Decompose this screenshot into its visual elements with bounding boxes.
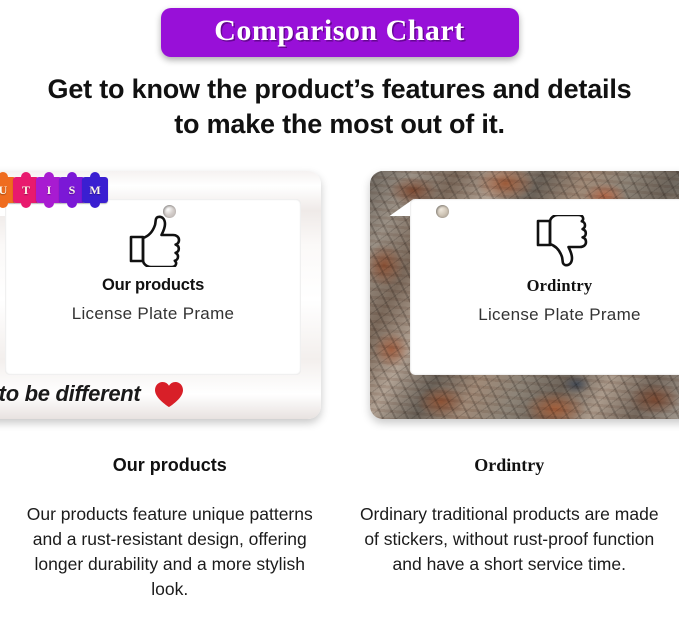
puzzle-letter: M [89,183,100,198]
plate-product-name: Ordintry [527,276,593,296]
slogan-text: ay to be different [0,381,140,407]
plate-product-subtitle: License Plate Prame [72,304,235,324]
slogan-band: ay to be different [0,379,321,409]
plate-window-ours: Our products License Plate Prame [5,199,301,375]
caption-body: Our products feature unique patterns and… [16,502,324,601]
plate-content-ours: Our products License Plate Prame [5,199,301,375]
caption-body: Ordinary traditional products are made o… [356,502,664,577]
comparison-chart-page: Comparison Chart Get to know the product… [0,0,679,618]
product-comparison-row: A U T I S M [0,163,679,431]
puzzle-piece: M [82,177,108,203]
caption-row: Our products Our products feature unique… [0,455,679,618]
autism-puzzle-strip: A U T I S M [0,177,105,203]
subtitle-text: Get to know the product’s features and d… [0,72,679,142]
plate-window-theirs: Ordintry License Plate Prame [410,199,679,375]
product-cell-theirs: Ordintry License Plate Prame [340,163,679,431]
screw-hole [436,205,449,218]
puzzle-letter: I [47,183,52,198]
banner-container: Comparison Chart [0,8,679,57]
thumbs-up-icon [123,215,183,267]
product-cell-ours: A U T I S M [0,163,340,431]
screw-hole [163,205,176,218]
puzzle-letter: U [0,183,7,198]
license-plate-frame-ours: A U T I S M [0,171,321,419]
comparison-chart-banner: Comparison Chart [161,8,519,57]
caption-cell-theirs: Ordintry Ordinary traditional products a… [340,455,679,618]
license-plate-frame-theirs: Ordintry License Plate Prame [370,171,679,419]
caption-title: Our products [16,455,324,476]
plate-product-name: Our products [102,276,204,295]
plate-content-theirs: Ordintry License Plate Prame [410,199,679,375]
page-title: Comparison Chart [187,14,493,48]
heart-icon [154,381,184,408]
caption-title: Ordintry [356,455,664,476]
puzzle-letter: S [69,183,76,198]
puzzle-letter: T [22,183,30,198]
plate-product-subtitle: License Plate Prame [478,305,641,325]
thumbs-down-icon [530,215,590,267]
caption-cell-ours: Our products Our products feature unique… [0,455,340,618]
